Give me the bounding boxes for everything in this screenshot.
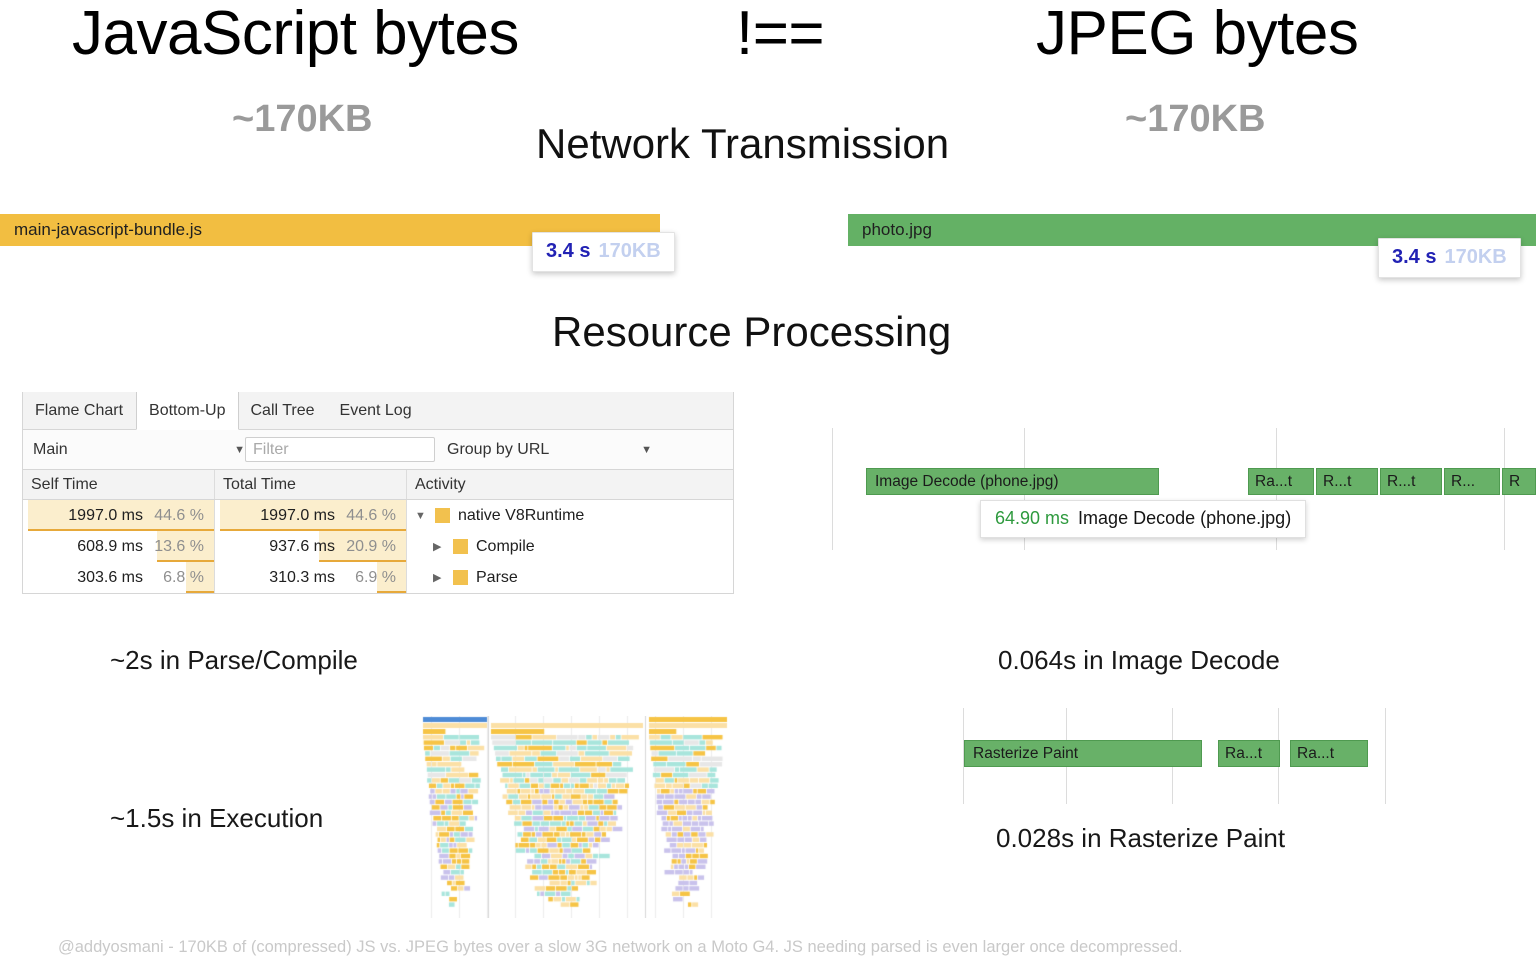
timeline-block-label: Ra...t — [1291, 745, 1334, 763]
section-title-resource-processing: Resource Processing — [552, 308, 951, 356]
timeline-block-label: R...t — [1381, 473, 1415, 491]
cell-total-time-percent: 6.9 % — [344, 569, 396, 587]
heading-jpeg-bytes: JPEG bytes — [1036, 0, 1358, 69]
annotation-parse-compile: ~2s in Parse/Compile — [110, 645, 358, 676]
devtools-tab-label: Call Tree — [251, 402, 315, 420]
timeline-block[interactable]: Rasterize Paint — [964, 740, 1202, 767]
network-tooltip-javascript-size: 170KB — [598, 240, 660, 263]
cell-self-time-percent: 6.8 % — [152, 569, 204, 587]
timeline-block-label: Image Decode (phone.jpg) — [867, 473, 1059, 491]
section-title-network-transmission: Network Transmission — [536, 120, 949, 168]
cell-total-time: 937.6 ms20.9 % — [215, 531, 407, 562]
cell-activity: ▼native V8Runtime — [407, 500, 733, 531]
triangle-right-icon[interactable]: ▶ — [433, 540, 445, 553]
network-tooltip-jpeg-time: 3.4 s — [1392, 246, 1436, 269]
cell-self-time: 303.6 ms6.8 % — [23, 562, 215, 593]
thread-select[interactable]: Main ▼ — [33, 441, 245, 459]
annotation-rasterize-paint: 0.028s in Rasterize Paint — [996, 823, 1285, 854]
column-header-activity[interactable]: Activity — [407, 470, 733, 499]
timeline-block[interactable]: R — [1502, 468, 1536, 495]
cell-self-time-percent: 44.6 % — [152, 507, 204, 525]
group-by-select-value: Group by URL — [447, 441, 549, 459]
size-label-javascript: ~170KB — [232, 98, 372, 141]
triangle-down-icon[interactable]: ▼ — [415, 510, 427, 522]
devtools-table-body: 1997.0 ms44.6 %1997.0 ms44.6 %▼native V8… — [23, 500, 733, 593]
column-header-self-time[interactable]: Self Time — [23, 470, 215, 499]
group-by-select[interactable]: Group by URL ▼ — [447, 441, 652, 459]
table-row[interactable]: 608.9 ms13.6 %937.6 ms20.9 %▶Compile — [23, 531, 733, 562]
cell-self-time-value: 1997.0 ms — [68, 507, 143, 525]
activity-label: Parse — [476, 569, 518, 587]
timeline-block-label: R...t — [1317, 473, 1351, 491]
chevron-down-icon: ▼ — [234, 444, 245, 456]
table-row[interactable]: 303.6 ms6.8 %310.3 ms6.9 %▶Parse — [23, 562, 733, 593]
timeline-block[interactable]: R... — [1444, 468, 1500, 495]
timeline-tooltip-label: Image Decode (phone.jpg) — [1078, 508, 1291, 529]
activity-color-swatch — [435, 508, 450, 523]
timeline-block[interactable]: R...t — [1380, 468, 1442, 495]
devtools-tab-bottom-up[interactable]: Bottom-Up — [136, 392, 238, 430]
annotation-execution: ~1.5s in Execution — [110, 803, 323, 834]
timeline-block-label: Rasterize Paint — [965, 745, 1078, 763]
table-row[interactable]: 1997.0 ms44.6 %1997.0 ms44.6 %▼native V8… — [23, 500, 733, 531]
network-tooltip-jpeg: 3.4 s 170KB — [1378, 238, 1521, 278]
chevron-down-icon: ▼ — [641, 444, 652, 456]
timeline-block[interactable]: Ra...t — [1290, 740, 1368, 767]
timeline-gridline — [1385, 708, 1386, 804]
cell-total-time: 1997.0 ms44.6 % — [215, 500, 407, 531]
devtools-tab-label: Bottom-Up — [149, 402, 225, 420]
devtools-tab-bar[interactable]: Flame ChartBottom-UpCall TreeEvent Log — [23, 392, 733, 430]
column-header-total-time[interactable]: Total Time — [215, 470, 407, 499]
cell-self-time: 608.9 ms13.6 % — [23, 531, 215, 562]
filter-input[interactable]: Filter — [245, 437, 435, 462]
cell-self-time-percent: 13.6 % — [152, 538, 204, 556]
devtools-tab-label: Event Log — [340, 402, 412, 420]
devtools-tab-event-log[interactable]: Event Log — [328, 392, 425, 429]
heading-javascript-bytes: JavaScript bytes — [72, 0, 519, 69]
network-tooltip-javascript: 3.4 s 170KB — [532, 232, 675, 272]
network-tooltip-javascript-time: 3.4 s — [546, 240, 590, 263]
network-bar-javascript-label: main-javascript-bundle.js — [0, 220, 202, 240]
cell-total-time-value: 310.3 ms — [269, 569, 335, 587]
timeline-gridline — [832, 428, 833, 550]
devtools-tab-label: Flame Chart — [35, 402, 123, 420]
timeline-block[interactable]: Ra...t — [1218, 740, 1280, 767]
timeline-block-label: Ra...t — [1249, 473, 1292, 491]
caption-credit: @addyosmani - 170KB of (compressed) JS v… — [58, 938, 1183, 957]
activity-label: Compile — [476, 538, 535, 556]
devtools-tab-flame-chart[interactable]: Flame Chart — [23, 392, 136, 429]
timeline-rasterize-paint[interactable]: Rasterize PaintRa...tRa...t — [960, 708, 1460, 804]
cell-total-time-value: 937.6 ms — [269, 538, 335, 556]
cell-activity: ▶Parse — [407, 562, 733, 593]
cell-activity: ▶Compile — [407, 531, 733, 562]
triangle-right-icon[interactable]: ▶ — [433, 571, 445, 584]
flame-chart-thumbnail[interactable] — [421, 716, 731, 918]
timeline-block-label: R... — [1445, 473, 1475, 491]
thread-select-value: Main — [33, 441, 68, 459]
cell-total-time: 310.3 ms6.9 % — [215, 562, 407, 593]
filter-input-placeholder: Filter — [253, 441, 289, 459]
timeline-block[interactable]: Ra...t — [1248, 468, 1314, 495]
timeline-block-label: Ra...t — [1219, 745, 1262, 763]
timeline-tooltip-duration: 64.90 ms — [995, 508, 1069, 529]
flame-chart-canvas — [421, 716, 731, 918]
activity-color-swatch — [453, 570, 468, 585]
cell-self-time-value: 608.9 ms — [77, 538, 143, 556]
activity-color-swatch — [453, 539, 468, 554]
cell-total-time-percent: 20.9 % — [344, 538, 396, 556]
timeline-block-label: R — [1503, 473, 1520, 491]
cell-self-time-value: 303.6 ms — [77, 569, 143, 587]
devtools-performance-panel[interactable]: Flame ChartBottom-UpCall TreeEvent Log M… — [22, 392, 734, 594]
cell-total-time-value: 1997.0 ms — [260, 507, 335, 525]
size-label-jpeg: ~170KB — [1125, 98, 1265, 141]
activity-label: native V8Runtime — [458, 507, 584, 525]
devtools-table-header: Self Time Total Time Activity — [23, 470, 733, 500]
timeline-block[interactable]: R...t — [1316, 468, 1378, 495]
network-bar-jpeg-label: photo.jpg — [848, 220, 932, 240]
devtools-tab-call-tree[interactable]: Call Tree — [239, 392, 328, 429]
cell-self-time: 1997.0 ms44.6 % — [23, 500, 215, 531]
annotation-image-decode: 0.064s in Image Decode — [998, 645, 1280, 676]
cell-total-time-percent: 44.6 % — [344, 507, 396, 525]
timeline-tooltip-image-decode: 64.90 ms Image Decode (phone.jpg) — [980, 500, 1306, 538]
heading-not-equal-operator: !== — [736, 0, 824, 69]
timeline-block[interactable]: Image Decode (phone.jpg) — [866, 468, 1159, 495]
devtools-toolbar[interactable]: Main ▼ Filter Group by URL ▼ — [23, 430, 733, 470]
network-tooltip-jpeg-size: 170KB — [1444, 246, 1506, 269]
